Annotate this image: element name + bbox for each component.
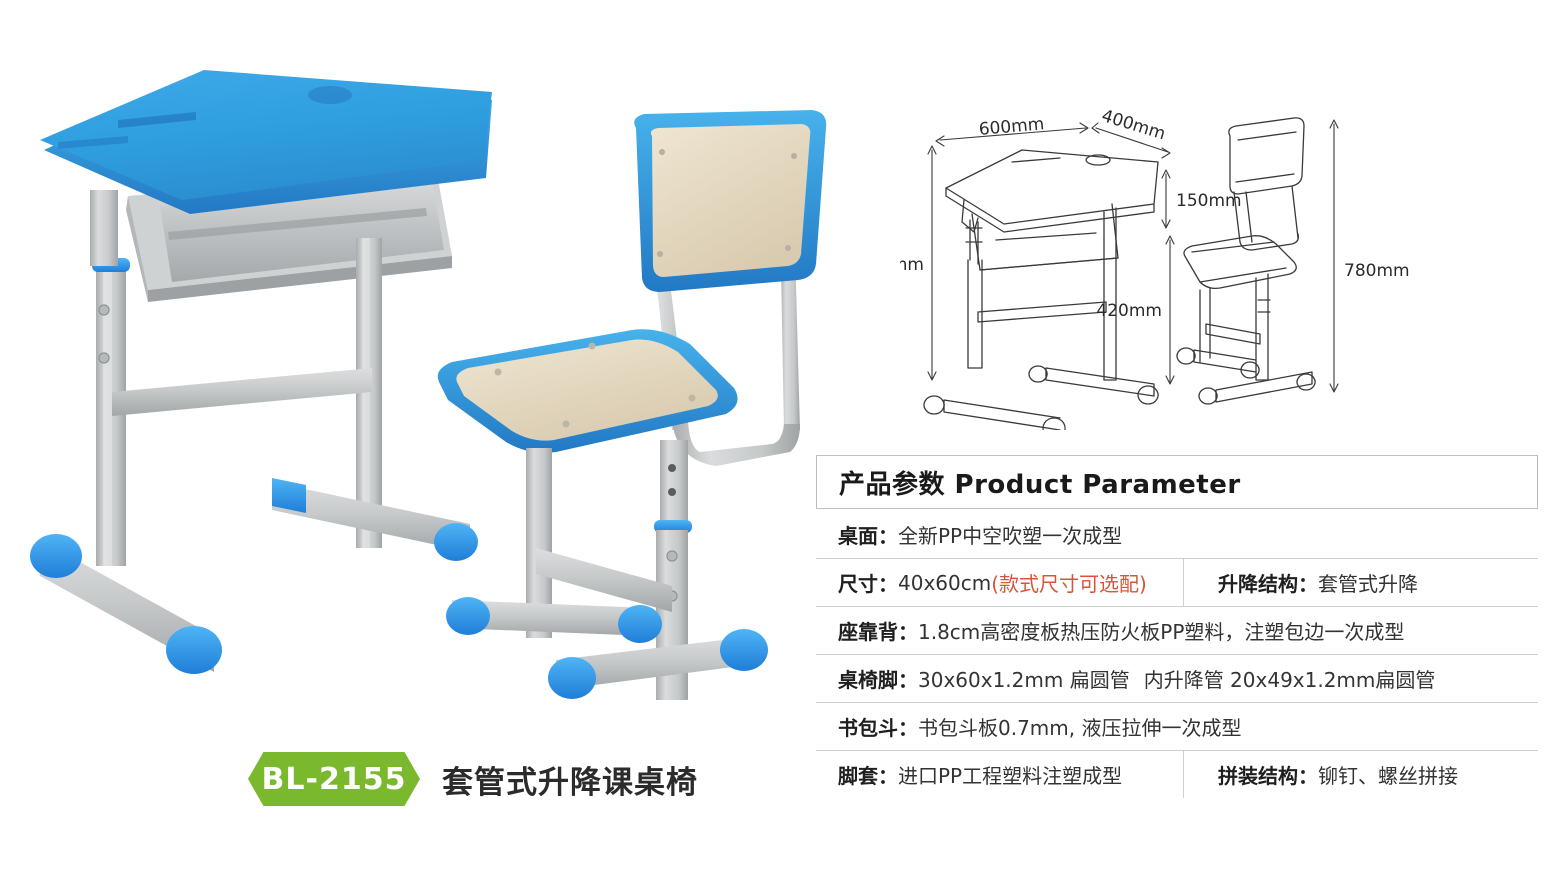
param-value: 进口PP工程塑料注塑成型 — [898, 760, 1122, 789]
parameter-header-text: 产品参数 Product Parameter — [839, 464, 1241, 501]
product-code-text: BL-2155 — [262, 762, 407, 797]
table-row: 桌椅脚： 30x60x1.2mm 扁圆管 内升降管 20x49x1.2mm扁圆管 — [816, 655, 1538, 703]
param-value: 30x60x1.2mm 扁圆管 — [918, 664, 1130, 693]
desk-unit — [30, 70, 492, 674]
technical-drawings: 600mm 400mm 780mm 150mm 420mm 780mm — [900, 100, 1500, 430]
param-label: 拼装结构： — [1218, 760, 1318, 789]
param-label: 桌椅脚： — [838, 664, 918, 693]
param-cell: 尺寸： 40x60cm (款式尺寸可选配) — [816, 559, 1184, 606]
chair-rear-foot — [446, 597, 662, 643]
param-value: 套管式升降 — [1318, 568, 1418, 597]
technical-drawing-svg: 600mm 400mm 780mm 150mm 420mm 780mm — [900, 100, 1500, 430]
desk-line-drawing — [924, 150, 1158, 430]
param-value-optional: (款式尺寸可选配) — [991, 568, 1147, 597]
dim-desk-width: 600mm — [978, 114, 1045, 140]
dim-drawer-height: 150mm — [1176, 191, 1242, 211]
dim-chair-seat-height: 420mm — [1096, 301, 1162, 321]
table-row: 书包斗： 书包斗板0.7mm, 液压拉伸一次成型 — [816, 703, 1538, 751]
chair-backrest — [634, 110, 826, 292]
param-label: 桌面： — [838, 520, 898, 549]
table-row: 脚套： 进口PP工程塑料注塑成型 拼装结构： 铆钉、螺丝拼接 — [816, 751, 1538, 798]
product-photo — [0, 0, 830, 760]
chair-cross-bar — [536, 548, 672, 612]
table-row: 尺寸： 40x60cm (款式尺寸可选配) 升降结构： 套管式升降 — [816, 559, 1538, 607]
param-cell: 书包斗： 书包斗板0.7mm, 液压拉伸一次成型 — [816, 703, 1538, 750]
product-identity: BL-2155 套管式升降课桌椅 — [248, 752, 698, 806]
desk-front-leg — [90, 190, 130, 566]
chair-seat — [438, 329, 738, 453]
param-value: 40x60cm — [898, 571, 991, 595]
desk-dimension-lines — [928, 123, 1170, 380]
chair-unit — [438, 110, 827, 700]
param-value-secondary: 内升降管 20x49x1.2mm扁圆管 — [1144, 664, 1436, 693]
param-value: 书包斗板0.7mm, 液压拉伸一次成型 — [918, 712, 1242, 741]
parameter-table-header: 产品参数 Product Parameter — [816, 455, 1538, 509]
param-label: 座靠背： — [838, 616, 918, 645]
product-parameter-panel: 产品参数 Product Parameter 桌面： 全新PP中空吹塑一次成型 … — [816, 455, 1538, 798]
param-label: 尺寸： — [838, 568, 898, 597]
param-cell: 座靠背： 1.8cm高密度板热压防火板PP塑料，注塑包边一次成型 — [816, 607, 1538, 654]
chair-dimension-lines — [1166, 120, 1338, 392]
table-row: 桌面： 全新PP中空吹塑一次成型 — [816, 511, 1538, 559]
dim-chair-height: 780mm — [1344, 261, 1410, 281]
param-value: 铆钉、螺丝拼接 — [1318, 760, 1458, 789]
dim-desk-depth: 400mm — [1099, 106, 1168, 144]
param-cell: 拼装结构： 铆钉、螺丝拼接 — [1184, 751, 1538, 798]
param-cell: 升降结构： 套管式升降 — [1184, 559, 1538, 606]
param-label: 脚套： — [838, 760, 898, 789]
product-photo-illustration — [0, 0, 830, 760]
param-value: 1.8cm高密度板热压防火板PP塑料，注塑包边一次成型 — [918, 616, 1404, 645]
param-cell: 桌面： 全新PP中空吹塑一次成型 — [816, 511, 1538, 558]
parameter-table-body: 桌面： 全新PP中空吹塑一次成型 尺寸： 40x60cm (款式尺寸可选配) 升… — [816, 511, 1538, 798]
product-title: 套管式升降课桌椅 — [442, 757, 698, 802]
dim-desk-height: 780mm — [900, 255, 924, 275]
param-label: 升降结构： — [1218, 568, 1318, 597]
product-code-badge: BL-2155 — [248, 752, 420, 806]
param-cell: 脚套： 进口PP工程塑料注塑成型 — [816, 751, 1184, 798]
chair-line-drawing — [1177, 118, 1315, 404]
table-row: 座靠背： 1.8cm高密度板热压防火板PP塑料，注塑包边一次成型 — [816, 607, 1538, 655]
desk-cross-bar — [112, 368, 372, 416]
param-cell: 桌椅脚： 30x60x1.2mm 扁圆管 内升降管 20x49x1.2mm扁圆管 — [816, 655, 1538, 702]
product-spec-page: 600mm 400mm 780mm 150mm 420mm 780mm BL-2… — [0, 0, 1546, 894]
param-label: 书包斗： — [838, 712, 918, 741]
param-value: 全新PP中空吹塑一次成型 — [898, 520, 1122, 549]
